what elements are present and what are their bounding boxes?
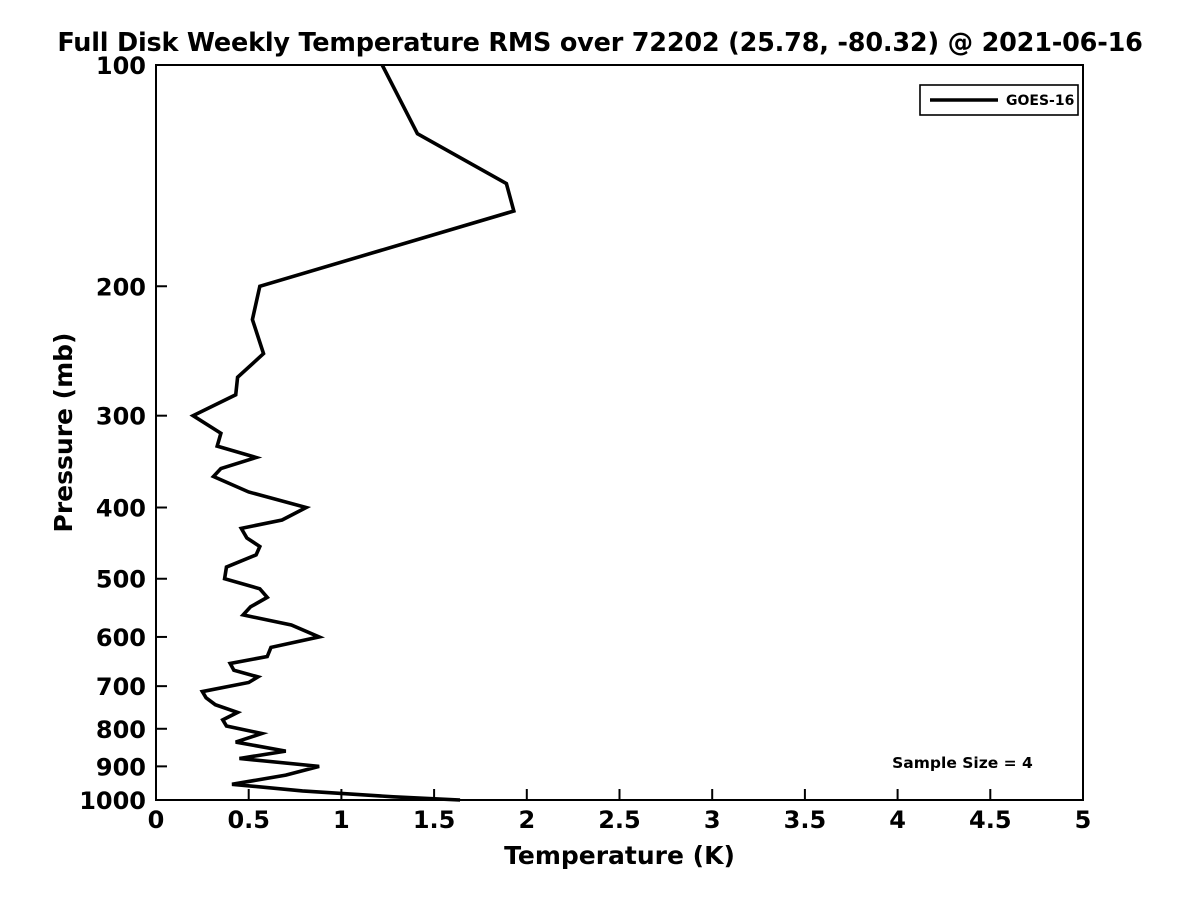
x-tick-label: 3 — [704, 806, 721, 834]
x-tick-label: 2 — [518, 806, 535, 834]
annotations: Sample Size = 4 — [892, 754, 1033, 772]
x-tick-label: 4.5 — [969, 806, 1012, 834]
y-tick-label: 500 — [96, 566, 146, 594]
y-tick-label: 1000 — [79, 787, 146, 815]
x-tick-label: 2.5 — [598, 806, 641, 834]
x-tick-label: 0 — [148, 806, 165, 834]
x-tick-label: 3.5 — [784, 806, 827, 834]
y-tick-label: 100 — [96, 52, 146, 80]
x-tick-label: 4 — [889, 806, 906, 834]
x-tick-label: 1 — [333, 806, 350, 834]
x-tick-label: 0.5 — [227, 806, 270, 834]
y-axis-title: Pressure (mb) — [49, 333, 78, 533]
data-series — [193, 65, 514, 800]
axes: 00.511.522.533.544.551002003004005006007… — [49, 52, 1091, 870]
figure-container: Full Disk Weekly Temperature RMS over 72… — [0, 0, 1200, 900]
y-tick-label: 800 — [96, 716, 146, 744]
legend-label-goes-16: GOES-16 — [1006, 93, 1074, 109]
sample-size-annotation: Sample Size = 4 — [892, 754, 1033, 772]
y-tick-label: 600 — [96, 624, 146, 652]
y-tick-label: 700 — [96, 673, 146, 701]
plot-frame — [156, 65, 1083, 800]
temperature-rms-profile-chart: 00.511.522.533.544.551002003004005006007… — [0, 0, 1200, 900]
y-tick-label: 200 — [96, 273, 146, 301]
x-axis-title: Temperature (K) — [504, 841, 735, 870]
x-tick-label: 5 — [1075, 806, 1092, 834]
x-tick-label: 1.5 — [413, 806, 456, 834]
series-line-goes-16 — [193, 65, 514, 800]
legend[interactable]: GOES-16 — [920, 85, 1078, 115]
y-tick-label: 400 — [96, 495, 146, 523]
y-tick-label: 900 — [96, 753, 146, 781]
y-tick-label: 300 — [96, 403, 146, 431]
